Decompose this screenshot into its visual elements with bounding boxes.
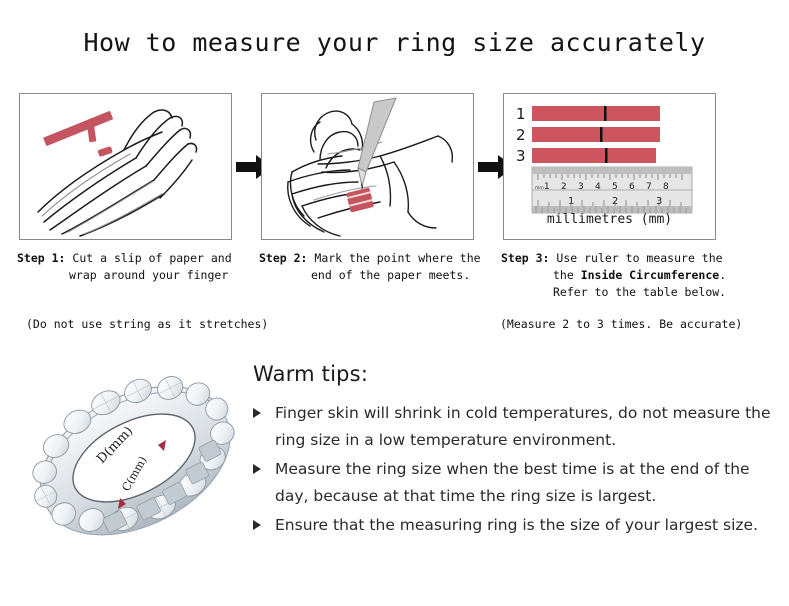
tip-item: Finger skin will shrink in cold temperat… xyxy=(253,400,773,454)
step-1-line-1: Cut a slip of paper and xyxy=(72,251,231,265)
pen xyxy=(358,98,396,192)
warm-tips-section: Warm tips: Finger skin will shrink in co… xyxy=(253,362,773,541)
step-3-line-2-prefix: the xyxy=(553,268,581,282)
strip-number-1: 1 xyxy=(516,105,526,123)
step-3-line-2-suffix: . xyxy=(719,268,726,282)
step-3-illustration-panel: 1 2 3 xyxy=(503,93,716,240)
svg-text:1: 1 xyxy=(544,182,550,192)
ring-diagram: D(mm) C(mm) xyxy=(18,352,250,564)
ruler: mm 123 456 78 123 xyxy=(532,167,692,213)
tip-item: Measure the ring size when the best time… xyxy=(253,456,773,510)
step-2-caption: Step 2: Mark the point where the end of … xyxy=(259,250,507,284)
step-3-line-3: Refer to the table below. xyxy=(501,284,749,301)
step-3-line-1: Use ruler to measure the xyxy=(556,251,722,265)
step-1-line-2: wrap around your finger xyxy=(17,267,265,284)
tip-text: Ensure that the measuring ring is the si… xyxy=(275,516,758,534)
measured-paper-strips xyxy=(532,106,660,163)
step-2-illustration-panel xyxy=(261,93,474,240)
step-2-line-2: end of the paper meets. xyxy=(259,267,507,284)
ruler-cm-unit: mm xyxy=(535,186,544,191)
svg-text:5: 5 xyxy=(612,182,618,192)
step-3-label: Step 3: xyxy=(501,251,549,265)
step-3-note: (Measure 2 to 3 times. Be accurate) xyxy=(500,316,762,332)
step-1-caption: Step 1: Cut a slip of paper and wrap aro… xyxy=(17,250,265,284)
svg-text:7: 7 xyxy=(646,182,652,192)
step-1-illustration-panel xyxy=(19,93,232,240)
tip-text: Finger skin will shrink in cold temperat… xyxy=(275,404,771,449)
svg-text:8: 8 xyxy=(663,182,669,192)
hand-with-paper-strip-drawing xyxy=(20,94,231,239)
tip-item: Ensure that the measuring ring is the si… xyxy=(253,512,773,539)
page-title: How to measure your ring size accurately xyxy=(0,28,789,57)
bullet-triangle-icon xyxy=(253,464,261,474)
step-2-line-1: Mark the point where the xyxy=(314,251,480,265)
strip-number-3: 3 xyxy=(516,147,526,165)
bullet-triangle-icon xyxy=(253,520,261,530)
step-1-note: (Do not use string as it stretches) xyxy=(26,316,288,332)
step-1-label: Step 1: xyxy=(17,251,65,265)
warm-tips-heading: Warm tips: xyxy=(253,362,773,386)
tip-text: Measure the ring size when the best time… xyxy=(275,460,750,505)
bullet-triangle-icon xyxy=(253,408,261,418)
paper-strip xyxy=(43,111,113,157)
step-2-label: Step 2: xyxy=(259,251,307,265)
svg-text:3: 3 xyxy=(578,182,584,192)
strip-number-2: 2 xyxy=(516,126,526,144)
eternity-ring-illustration: D(mm) C(mm) xyxy=(18,352,250,564)
step-3-caption: Step 3: Use ruler to measure the the Ins… xyxy=(501,250,749,301)
svg-text:6: 6 xyxy=(629,182,635,192)
svg-text:2: 2 xyxy=(561,182,567,192)
ruler-unit-label: millimetres (mm) xyxy=(504,212,715,227)
svg-text:4: 4 xyxy=(595,182,601,192)
hands-marking-paper-drawing xyxy=(262,94,473,239)
paper-strip-on-finger xyxy=(346,187,374,212)
inside-circumference-emphasis: Inside Circumference xyxy=(581,268,719,282)
